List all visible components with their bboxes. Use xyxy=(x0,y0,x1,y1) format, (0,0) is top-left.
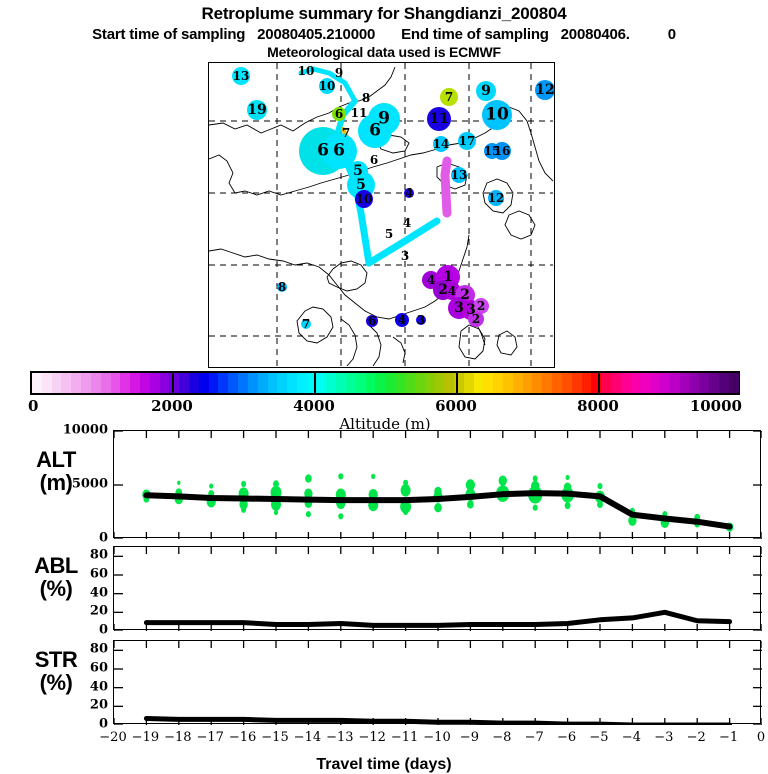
colorbar-swatch xyxy=(209,373,219,393)
map-marker-label: 10 xyxy=(356,193,373,205)
scatter-point xyxy=(306,511,311,517)
colorbar-swatch xyxy=(199,373,209,393)
x-tick-label: −14 xyxy=(294,730,321,745)
map-marker-label: 4 xyxy=(405,187,413,199)
scatter-point xyxy=(597,501,603,508)
colorbar-swatch xyxy=(631,373,641,393)
map-marker-label: 13 xyxy=(451,169,468,181)
scatter-point xyxy=(499,475,507,485)
x-tick-label: −7 xyxy=(525,730,544,745)
y-tick-label: 40 xyxy=(40,585,108,600)
scatter-point xyxy=(209,483,213,488)
colorbar-swatch xyxy=(640,373,650,393)
scatter-points-alt xyxy=(142,473,733,532)
x-tick-label: −11 xyxy=(391,730,418,745)
x-tick-label: −8 xyxy=(492,730,511,745)
y-tick-label: 40 xyxy=(40,679,108,694)
colorbar-swatch xyxy=(503,373,513,393)
x-tick-label: −3 xyxy=(654,730,673,745)
scatter-point xyxy=(403,509,408,515)
map-marker-label: 3 xyxy=(417,314,425,326)
x-tick-label: −1 xyxy=(719,730,738,745)
chart-panel-abl xyxy=(113,546,761,630)
map-marker-label: 4 xyxy=(448,285,456,297)
map-marker-label: 6 xyxy=(369,123,381,140)
colorbar-swatch xyxy=(228,373,238,393)
x-tick-label: −20 xyxy=(99,730,126,745)
colorbar-tick-label: 8000 xyxy=(577,397,619,415)
x-tick-label: −12 xyxy=(358,730,385,745)
colorbar-tick-label: 6000 xyxy=(435,397,477,415)
map-marker-label: 10 xyxy=(298,65,315,77)
scatter-point xyxy=(533,475,538,481)
x-tick-label: −15 xyxy=(261,730,288,745)
colorbar-gradient xyxy=(30,371,740,395)
map-marker-label: 8 xyxy=(278,281,286,293)
x-axis-title: Travel time (days) xyxy=(0,756,768,774)
map-marker-label: 4 xyxy=(398,314,406,326)
scatter-point xyxy=(274,510,278,515)
colorbar-divider xyxy=(456,371,458,395)
colorbar-swatch xyxy=(523,373,533,393)
y-tick-label: 60 xyxy=(40,661,108,676)
scatter-point xyxy=(434,503,442,512)
colorbar-swatch xyxy=(689,373,699,393)
scatter-point xyxy=(338,473,343,479)
colorbar-swatch xyxy=(542,373,552,393)
map-marker-label: 5 xyxy=(356,178,366,192)
colorbar-swatch xyxy=(572,373,582,393)
end-time-extra: 0 xyxy=(668,26,676,43)
colorbar-swatch xyxy=(366,373,376,393)
retroplume-map: 1319109108611976667912111014171516655101… xyxy=(208,62,555,368)
map-marker-label: 6 xyxy=(317,143,329,160)
map-marker-label: 8 xyxy=(362,92,370,104)
colorbar-tick-label: 2000 xyxy=(151,397,193,415)
map-marker-label: 10 xyxy=(485,107,509,124)
colorbar-swatch xyxy=(52,373,62,393)
colorbar-swatch xyxy=(101,373,111,393)
colorbar-swatch xyxy=(120,373,130,393)
x-tick-label: −9 xyxy=(460,730,479,745)
map-marker-label: 12 xyxy=(535,83,554,97)
chart-canvas-abl xyxy=(114,547,762,631)
colorbar-swatch xyxy=(709,373,719,393)
colorbar-swatch xyxy=(621,373,631,393)
map-marker-label: 4 xyxy=(403,217,411,229)
colorbar-swatch xyxy=(111,373,121,393)
colorbar-swatch xyxy=(336,373,346,393)
map-marker-label: 6 xyxy=(335,108,343,120)
map-marker-label: 4 xyxy=(427,274,435,286)
colorbar-swatch xyxy=(150,373,160,393)
y-ticks-abl xyxy=(114,556,762,631)
map-marker-label: 7 xyxy=(302,318,310,330)
scatter-point xyxy=(177,481,180,485)
colorbar-tick-label: 4000 xyxy=(293,397,335,415)
colorbar-swatch xyxy=(395,373,405,393)
map-marker-label: 2 xyxy=(477,300,485,312)
x-tick-label: −18 xyxy=(164,730,191,745)
x-ticks-abl xyxy=(114,547,762,631)
y-tick-label: 0 xyxy=(40,531,108,546)
colorbar-swatch xyxy=(601,373,611,393)
colorbar-swatch xyxy=(699,373,709,393)
colorbar-tick-label: 0 xyxy=(28,397,38,415)
chart-canvas-alt xyxy=(114,431,762,539)
map-marker-label: 6 xyxy=(370,154,378,166)
colorbar-swatch xyxy=(32,373,42,393)
x-tick-label: −6 xyxy=(557,730,576,745)
colorbar-swatch xyxy=(385,373,395,393)
colorbar-swatch xyxy=(277,373,287,393)
colorbar-swatch xyxy=(660,373,670,393)
start-time-label: Start time of sampling xyxy=(92,26,245,43)
y-tick-label: 20 xyxy=(40,604,108,619)
colorbar-swatch xyxy=(238,373,248,393)
colorbar-swatch xyxy=(140,373,150,393)
y-tick-label: 80 xyxy=(40,642,108,657)
y-ticks-str xyxy=(114,650,762,725)
x-tick-label: −16 xyxy=(229,730,256,745)
map-marker-label: 17 xyxy=(459,135,476,147)
colorbar-swatch xyxy=(169,373,179,393)
colorbar-swatch xyxy=(719,373,729,393)
altitude-colorbar: 0200040006000800010000 Altitude (m) xyxy=(30,371,740,395)
y-tick-label: 20 xyxy=(40,698,108,713)
colorbar-swatch xyxy=(160,373,170,393)
scatter-point xyxy=(467,500,474,508)
map-marker-label: 13 xyxy=(233,70,250,82)
colorbar-swatch xyxy=(729,373,739,393)
map-marker-label: 5 xyxy=(385,228,393,240)
scatter-point xyxy=(401,484,411,496)
map-marker-label: 5 xyxy=(353,164,363,178)
colorbar-divider xyxy=(314,371,316,395)
colorbar-swatch xyxy=(317,373,327,393)
colorbar-swatch xyxy=(582,373,592,393)
map-marker-label: 9 xyxy=(481,84,491,98)
x-tick-label: −4 xyxy=(622,730,641,745)
map-marker-label: 7 xyxy=(342,127,350,139)
colorbar-swatch xyxy=(434,373,444,393)
colorbar-swatch xyxy=(532,373,542,393)
scatter-point xyxy=(371,474,375,479)
y-tick-label: 80 xyxy=(40,548,108,563)
colorbar-swatch xyxy=(248,373,258,393)
colorbar-swatch xyxy=(81,373,91,393)
colorbar-swatch xyxy=(375,373,385,393)
scatter-point xyxy=(241,507,246,513)
met-data-line: Meteorological data used is ECMWF xyxy=(0,44,768,60)
colorbar-swatch xyxy=(91,373,101,393)
scatter-point xyxy=(241,481,246,487)
chart-panel-str xyxy=(113,640,761,724)
map-marker-label: 14 xyxy=(433,138,450,150)
colorbar-swatch xyxy=(189,373,199,393)
colorbar-swatch xyxy=(552,373,562,393)
end-time-label: End time of sampling xyxy=(401,26,549,43)
colorbar-swatch xyxy=(297,373,307,393)
header-block: Retroplume summary for Shangdianzi_20080… xyxy=(0,0,768,60)
page-title: Retroplume summary for Shangdianzi_20080… xyxy=(0,4,768,24)
colorbar-divider xyxy=(598,371,600,395)
map-marker-label: 2 xyxy=(438,283,448,297)
colorbar-swatch xyxy=(287,373,297,393)
map-marker-label: 10 xyxy=(319,80,336,92)
start-time-value: 20080405.210000 xyxy=(257,26,375,43)
x-tick-label: −19 xyxy=(132,730,159,745)
scatter-point xyxy=(565,502,571,509)
colorbar-swatch xyxy=(670,373,680,393)
colorbar-swatch xyxy=(513,373,523,393)
map-marker-label: 3 xyxy=(401,250,409,262)
x-tick-label: −5 xyxy=(589,730,608,745)
panel-label-alt-line1: ALT xyxy=(6,448,106,471)
y-tick-label: 60 xyxy=(40,567,108,582)
x-tick-label: −13 xyxy=(326,730,353,745)
map-marker-label: 19 xyxy=(247,103,266,117)
colorbar-divider xyxy=(172,371,174,395)
scatter-point xyxy=(533,505,538,511)
colorbar-swatch xyxy=(346,373,356,393)
trend-line-abl xyxy=(146,612,729,625)
colorbar-swatch xyxy=(258,373,268,393)
x-tick-label: −17 xyxy=(196,730,223,745)
map-marker-label: 11 xyxy=(429,112,448,126)
scatter-point xyxy=(338,513,343,519)
colorbar-swatch xyxy=(42,373,52,393)
end-time-value: 20080406. xyxy=(561,26,630,43)
y-tick-label: 0 xyxy=(40,623,108,638)
colorbar-swatch xyxy=(650,373,660,393)
colorbar-swatch xyxy=(356,373,366,393)
y-tick-label: 0 xyxy=(40,717,108,732)
colorbar-swatch xyxy=(444,373,454,393)
map-marker-label: 12 xyxy=(488,192,505,204)
colorbar-swatch xyxy=(415,373,425,393)
y-tick-label: 5000 xyxy=(40,477,108,492)
colorbar-swatch xyxy=(562,373,572,393)
colorbar-swatch xyxy=(474,373,484,393)
colorbar-tick-label: 10000 xyxy=(690,397,742,415)
y-tick-label: 10000 xyxy=(40,423,108,438)
scatter-point xyxy=(305,474,312,482)
map-marker-label: 11 xyxy=(351,107,368,119)
colorbar-swatch xyxy=(218,373,228,393)
colorbar-swatch xyxy=(425,373,435,393)
colorbar-swatch xyxy=(326,373,336,393)
map-marker-label: 2 xyxy=(472,313,480,325)
map-marker-label: 7 xyxy=(445,91,453,103)
colorbar-swatch xyxy=(179,373,189,393)
colorbar-swatch xyxy=(405,373,415,393)
map-marker-label: 16 xyxy=(494,145,511,157)
colorbar-swatch xyxy=(71,373,81,393)
map-marker-label: 6 xyxy=(368,315,376,327)
x-ticks-str xyxy=(114,641,762,725)
colorbar-swatch xyxy=(61,373,71,393)
map-marker-label: 6 xyxy=(333,143,345,160)
map-marker-label: 9 xyxy=(335,67,343,79)
colorbar-swatch xyxy=(464,373,474,393)
map-marker-label: 3 xyxy=(454,301,464,315)
colorbar-swatch xyxy=(483,373,493,393)
colorbar-swatch xyxy=(130,373,140,393)
x-tick-label: −10 xyxy=(423,730,450,745)
scatter-point xyxy=(566,475,570,480)
colorbar-swatch xyxy=(493,373,503,393)
chart-canvas-str xyxy=(114,641,762,725)
colorbar-swatch xyxy=(680,373,690,393)
sampling-time-line: Start time of sampling 20080405.210000 E… xyxy=(0,26,768,43)
x-tick-label: −2 xyxy=(687,730,706,745)
x-tick-label: 0 xyxy=(757,730,765,745)
colorbar-swatch xyxy=(611,373,621,393)
chart-panel-alt xyxy=(113,430,761,538)
scatter-point xyxy=(597,483,602,489)
colorbar-swatch xyxy=(268,373,278,393)
